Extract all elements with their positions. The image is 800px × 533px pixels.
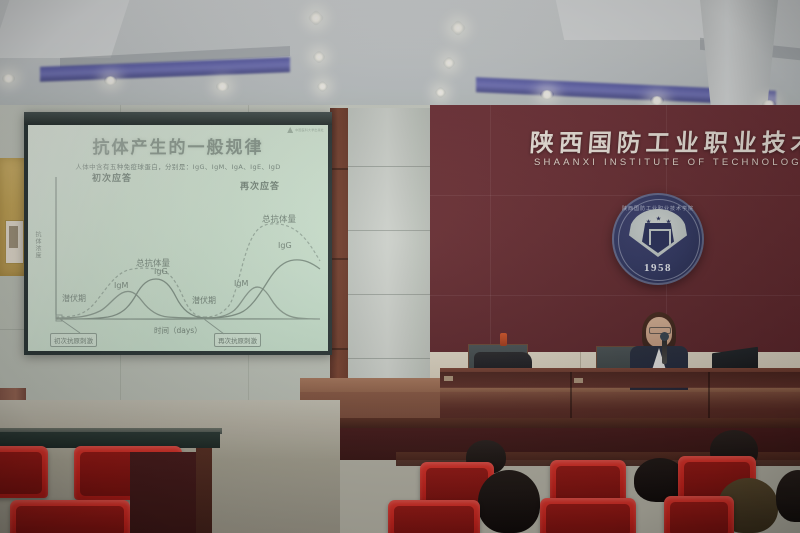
chart-stimulus-secondary: 再次抗原刺激	[214, 333, 261, 347]
audience-seat	[664, 496, 734, 533]
chart-x-axis-label: 时间（days）	[154, 325, 202, 336]
audience-seat	[388, 500, 480, 533]
chart-label-total-secondary: 总抗体量	[262, 213, 296, 225]
projected-slide: 中国医科大学出版社 抗体产生的一般规律 人体中含有五种免疫球蛋白，分别是：IgG…	[28, 125, 328, 351]
downlight-icon	[540, 90, 554, 99]
wood-trim-strip	[330, 108, 350, 418]
audience-head	[478, 470, 540, 533]
downlight-icon	[312, 50, 326, 64]
downlight-icon	[2, 74, 15, 83]
chart-phase-secondary: 再次应答	[240, 179, 280, 192]
slide-logo-text: 中国医科大学出版社	[295, 128, 324, 132]
banner-title-chinese: 陕西国防工业职业技术学院	[529, 123, 800, 158]
poster-frame-icon	[5, 220, 24, 264]
lecture-hall-photo: 中国医科大学出版社 抗体产生的一般规律 人体中含有五种免疫球蛋白，分别是：IgG…	[0, 0, 800, 533]
ceiling	[0, 0, 800, 118]
screen-top-bar	[24, 112, 332, 125]
chart-label-igm-secondary: IgM	[234, 279, 248, 288]
downlight-icon	[450, 20, 467, 37]
chart-label-lag-primary: 潜伏期	[62, 293, 86, 304]
downlight-icon	[442, 56, 456, 70]
chart-phase-primary: 初次应答	[92, 171, 132, 184]
downlight-icon	[104, 76, 117, 85]
audience-seat	[0, 446, 48, 498]
wall-column	[348, 108, 436, 418]
school-emblem: 陕西国防工业职业技术学院 1958	[612, 193, 704, 285]
emblem-year: 1958	[612, 262, 704, 274]
bench-rail	[340, 418, 800, 428]
chart-label-igg-secondary: IgG	[278, 241, 292, 250]
chart-label-igg-primary: IgG	[154, 267, 168, 276]
downlight-icon	[434, 86, 447, 99]
projection-screen-frame: 中国医科大学出版社 抗体产生的一般规律 人体中含有五种免疫球蛋白，分别是：IgG…	[24, 112, 332, 355]
chart-label-lag-secondary: 潜伏期	[192, 295, 216, 306]
seat-shadow	[130, 452, 200, 533]
chart-y-axis-label: 抗体浓度	[33, 231, 42, 259]
downlight-icon	[308, 10, 325, 27]
banner-title-english: SHAANXI INSTITUTE OF TECHNOLOGY	[534, 157, 800, 168]
slide-title: 抗体产生的一般规律	[28, 133, 328, 158]
microphone-icon	[662, 338, 667, 364]
chart-label-igm-primary: IgM	[114, 281, 128, 290]
chart-svg	[28, 169, 328, 351]
bench-divider	[196, 448, 212, 533]
audience-seat	[10, 500, 130, 533]
downlight-icon	[216, 82, 229, 91]
bottle-icon	[500, 333, 507, 346]
audience-head	[776, 470, 800, 522]
chart-stimulus-primary: 初次抗原刺激	[50, 333, 97, 347]
audience-seat	[540, 498, 636, 533]
antibody-response-chart: 抗体浓度 初次应答 再次应答 总抗体量 总抗体量 IgM IgG IgM IgG…	[28, 169, 328, 351]
downlight-icon	[650, 96, 664, 105]
downlight-icon	[316, 80, 329, 93]
ceiling-beam	[700, 0, 778, 108]
